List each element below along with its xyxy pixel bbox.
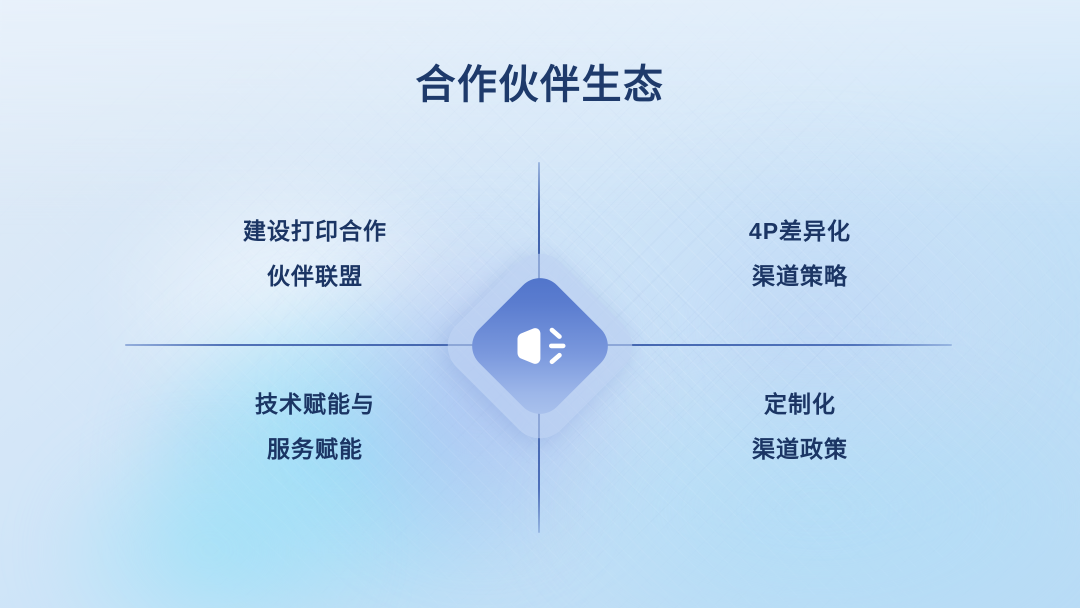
- presentation-slide: 合作伙伴生态 建设打印合作 伙伴联盟 4P差异化 渠道策略 技术赋能与 服务赋能…: [0, 0, 1080, 608]
- quadrant-top-left: 建设打印合作 伙伴联盟: [160, 220, 470, 288]
- quadrant-bottom-left: 技术赋能与 服务赋能: [160, 393, 470, 461]
- quadrant-bottom-right: 定制化 渠道政策: [620, 393, 980, 461]
- quadrant-top-right-line-1: 4P差异化: [620, 220, 980, 243]
- quadrant-top-right: 4P差异化 渠道策略: [620, 220, 980, 288]
- quadrant-bottom-right-line-2: 渠道政策: [620, 438, 980, 461]
- quadrant-bottom-left-line-1: 技术赋能与: [160, 393, 470, 416]
- megaphone-icon: [466, 272, 614, 420]
- page-title: 合作伙伴生态: [0, 62, 1080, 108]
- quadrant-top-left-line-2: 伙伴联盟: [160, 265, 470, 288]
- quadrant-bottom-right-line-1: 定制化: [620, 393, 980, 416]
- quadrant-bottom-left-line-2: 服务赋能: [160, 438, 470, 461]
- quadrant-top-right-line-2: 渠道策略: [620, 265, 980, 288]
- background-blob-cyan-small: [60, 440, 360, 608]
- quadrant-top-left-line-1: 建设打印合作: [160, 220, 470, 243]
- center-badge: [466, 272, 614, 420]
